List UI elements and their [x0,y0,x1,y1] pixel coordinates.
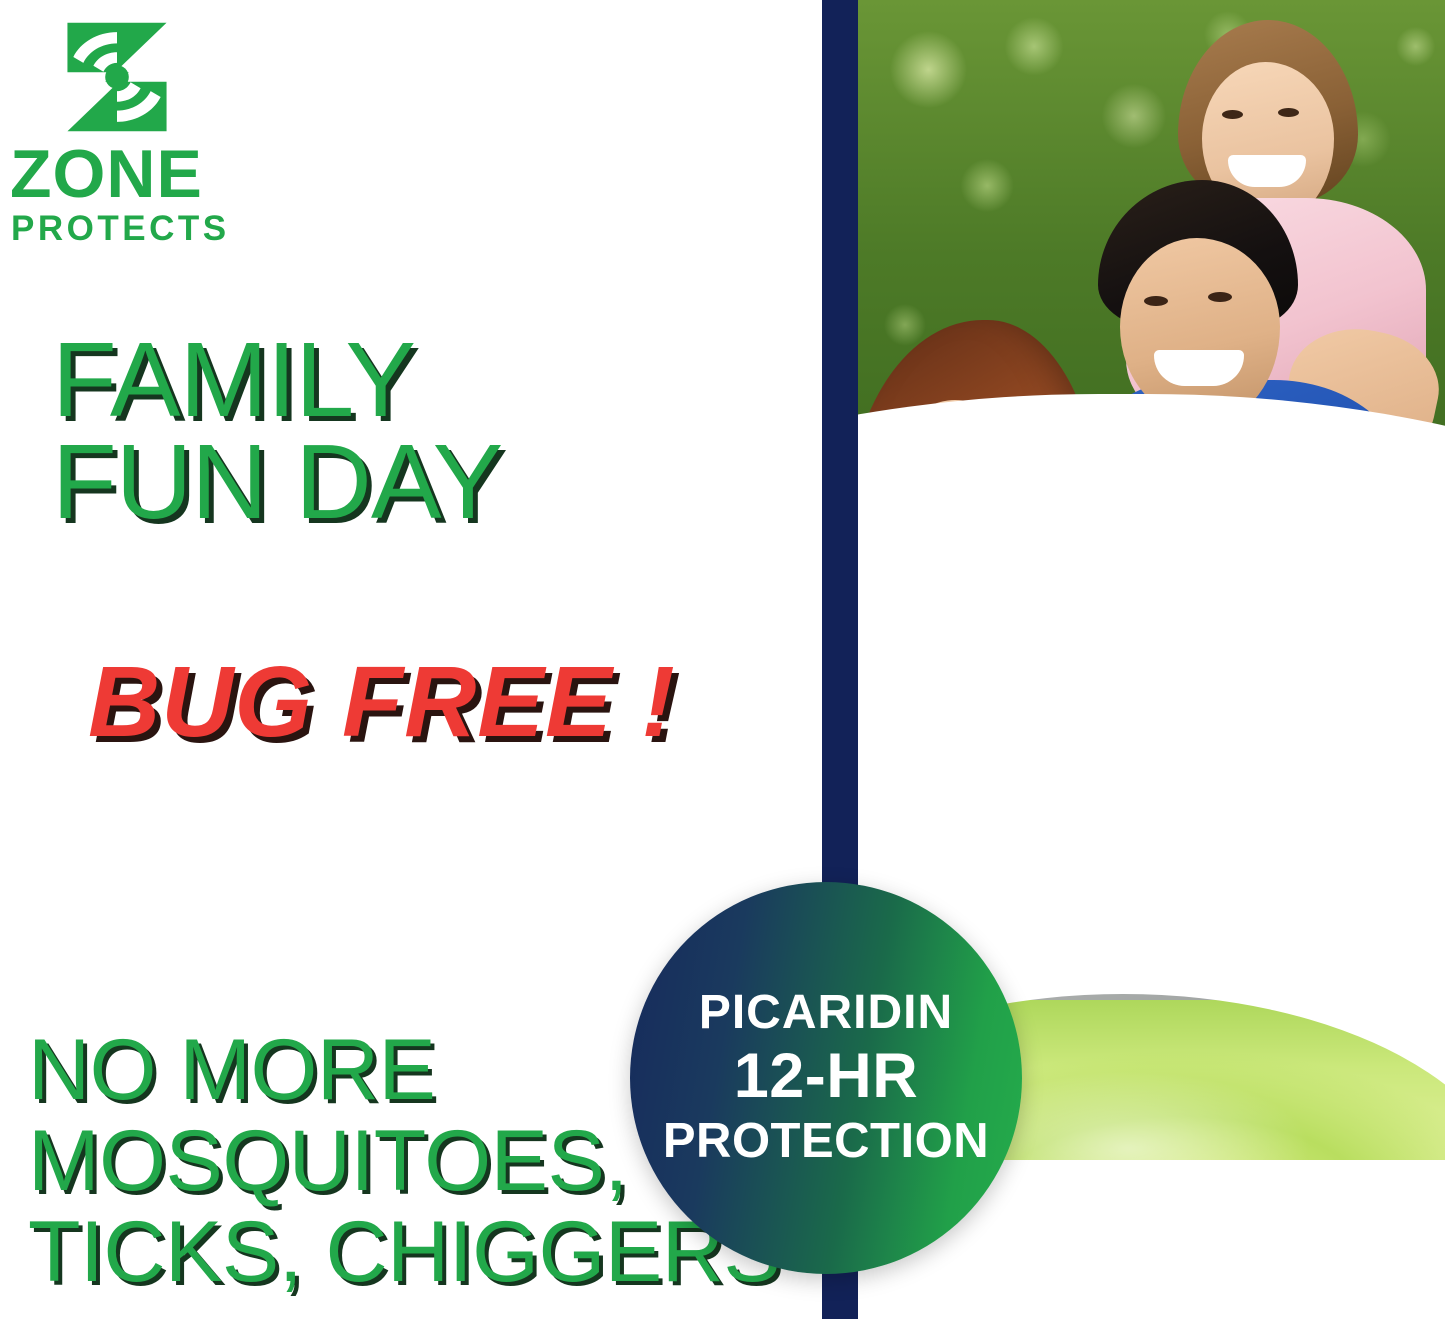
advertisement-banner: ZONE PROTECTS FAMILY FUN DAY BUG FREE ! … [0,0,1445,1319]
boy-eye-left [1144,296,1168,306]
football-laces [1028,796,1110,820]
headline-line-1: FAMILY [52,321,415,439]
badge-line-3: PROTECTION [663,1116,989,1167]
subheadline: BUG FREE ! [88,652,676,752]
brand-logo: ZONE PROTECTS [8,18,268,246]
girl-eye-left [1222,110,1243,119]
brand-tagline: PROTECTS [11,211,268,246]
badge-line-1: PICARIDIN [699,988,953,1038]
headline-line-2: FUN DAY [52,432,502,534]
girl-smile [1228,155,1306,187]
man-eye-left [1108,572,1138,584]
girl-eye-right [1278,108,1299,117]
woman-eye-left [910,470,936,481]
page-title: FAMILY FUN DAY [52,330,502,534]
woman-smile [916,530,1000,564]
woman-eye-right [970,463,996,474]
tagline-line-3: TICKS, CHIGGERS [28,1207,780,1298]
boy-eye-right [1208,292,1232,302]
zone-z-signal-logo-icon [58,18,176,136]
man-eye-right [1190,568,1220,580]
boy-smile [1154,350,1244,386]
badge-line-2: 12-HR [734,1042,919,1110]
picaridin-protection-badge: PICARIDIN 12-HR PROTECTION [630,882,1022,1274]
man-smile [1118,652,1222,686]
brand-name: ZONE [10,144,268,205]
